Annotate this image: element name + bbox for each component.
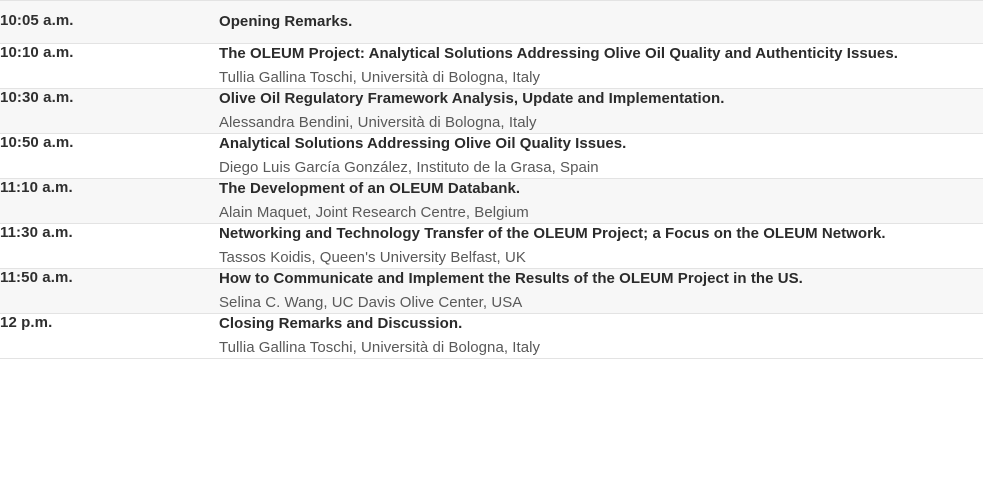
schedule-time-cell: 10:50 a.m. <box>0 134 219 179</box>
session-time: 12 p.m. <box>0 314 219 332</box>
schedule-row: 10:30 a.m.Olive Oil Regulatory Framework… <box>0 89 983 134</box>
schedule-time-cell: 10:05 a.m. <box>0 1 219 44</box>
schedule-row: 10:05 a.m.Opening Remarks. <box>0 1 983 44</box>
session-title: Analytical Solutions Addressing Olive Oi… <box>219 134 983 154</box>
session-title: Networking and Technology Transfer of th… <box>219 224 983 244</box>
schedule-session-cell: Opening Remarks. <box>219 1 983 44</box>
schedule-table-body: 10:05 a.m.Opening Remarks.10:10 a.m.The … <box>0 1 983 359</box>
session-time: 11:50 a.m. <box>0 269 219 287</box>
session-time: 10:10 a.m. <box>0 44 219 62</box>
schedule-row: 11:30 a.m.Networking and Technology Tran… <box>0 224 983 269</box>
schedule-time-cell: 11:50 a.m. <box>0 269 219 314</box>
schedule-time-cell: 11:10 a.m. <box>0 179 219 224</box>
schedule-row: 11:10 a.m.The Development of an OLEUM Da… <box>0 179 983 224</box>
schedule-row: 11:50 a.m.How to Communicate and Impleme… <box>0 269 983 314</box>
session-speaker: Selina C. Wang, UC Davis Olive Center, U… <box>219 292 983 313</box>
schedule-session-cell: Closing Remarks and Discussion.Tullia Ga… <box>219 314 983 359</box>
schedule-session-cell: Analytical Solutions Addressing Olive Oi… <box>219 134 983 179</box>
schedule-session-cell: The Development of an OLEUM Databank.Ala… <box>219 179 983 224</box>
session-speaker: Tullia Gallina Toschi, Università di Bol… <box>219 337 983 358</box>
session-title: The Development of an OLEUM Databank. <box>219 179 983 199</box>
session-speaker: Tullia Gallina Toschi, Università di Bol… <box>219 67 983 88</box>
session-speaker: Diego Luis García González, Instituto de… <box>219 157 983 178</box>
session-title: Olive Oil Regulatory Framework Analysis,… <box>219 89 983 109</box>
schedule-row: 12 p.m.Closing Remarks and Discussion.Tu… <box>0 314 983 359</box>
session-time: 11:30 a.m. <box>0 224 219 242</box>
schedule-session-cell: Networking and Technology Transfer of th… <box>219 224 983 269</box>
schedule-session-cell: The OLEUM Project: Analytical Solutions … <box>219 44 983 89</box>
session-time: 10:50 a.m. <box>0 134 219 152</box>
session-time: 11:10 a.m. <box>0 179 219 197</box>
session-speaker: Alessandra Bendini, Università di Bologn… <box>219 112 983 133</box>
session-speaker: Alain Maquet, Joint Research Centre, Bel… <box>219 202 983 223</box>
schedule-time-cell: 11:30 a.m. <box>0 224 219 269</box>
schedule-session-cell: How to Communicate and Implement the Res… <box>219 269 983 314</box>
schedule-row: 10:50 a.m.Analytical Solutions Addressin… <box>0 134 983 179</box>
session-title: The OLEUM Project: Analytical Solutions … <box>219 44 983 64</box>
schedule-time-cell: 10:30 a.m. <box>0 89 219 134</box>
schedule-row: 10:10 a.m.The OLEUM Project: Analytical … <box>0 44 983 89</box>
schedule-session-cell: Olive Oil Regulatory Framework Analysis,… <box>219 89 983 134</box>
session-speaker: Tassos Koidis, Queen's University Belfas… <box>219 247 983 268</box>
session-title: Opening Remarks. <box>219 12 983 32</box>
session-title: Closing Remarks and Discussion. <box>219 314 983 334</box>
session-title: How to Communicate and Implement the Res… <box>219 269 983 289</box>
session-time: 10:05 a.m. <box>0 12 219 30</box>
schedule-time-cell: 12 p.m. <box>0 314 219 359</box>
schedule-table: 10:05 a.m.Opening Remarks.10:10 a.m.The … <box>0 0 983 359</box>
schedule-time-cell: 10:10 a.m. <box>0 44 219 89</box>
session-time: 10:30 a.m. <box>0 89 219 107</box>
